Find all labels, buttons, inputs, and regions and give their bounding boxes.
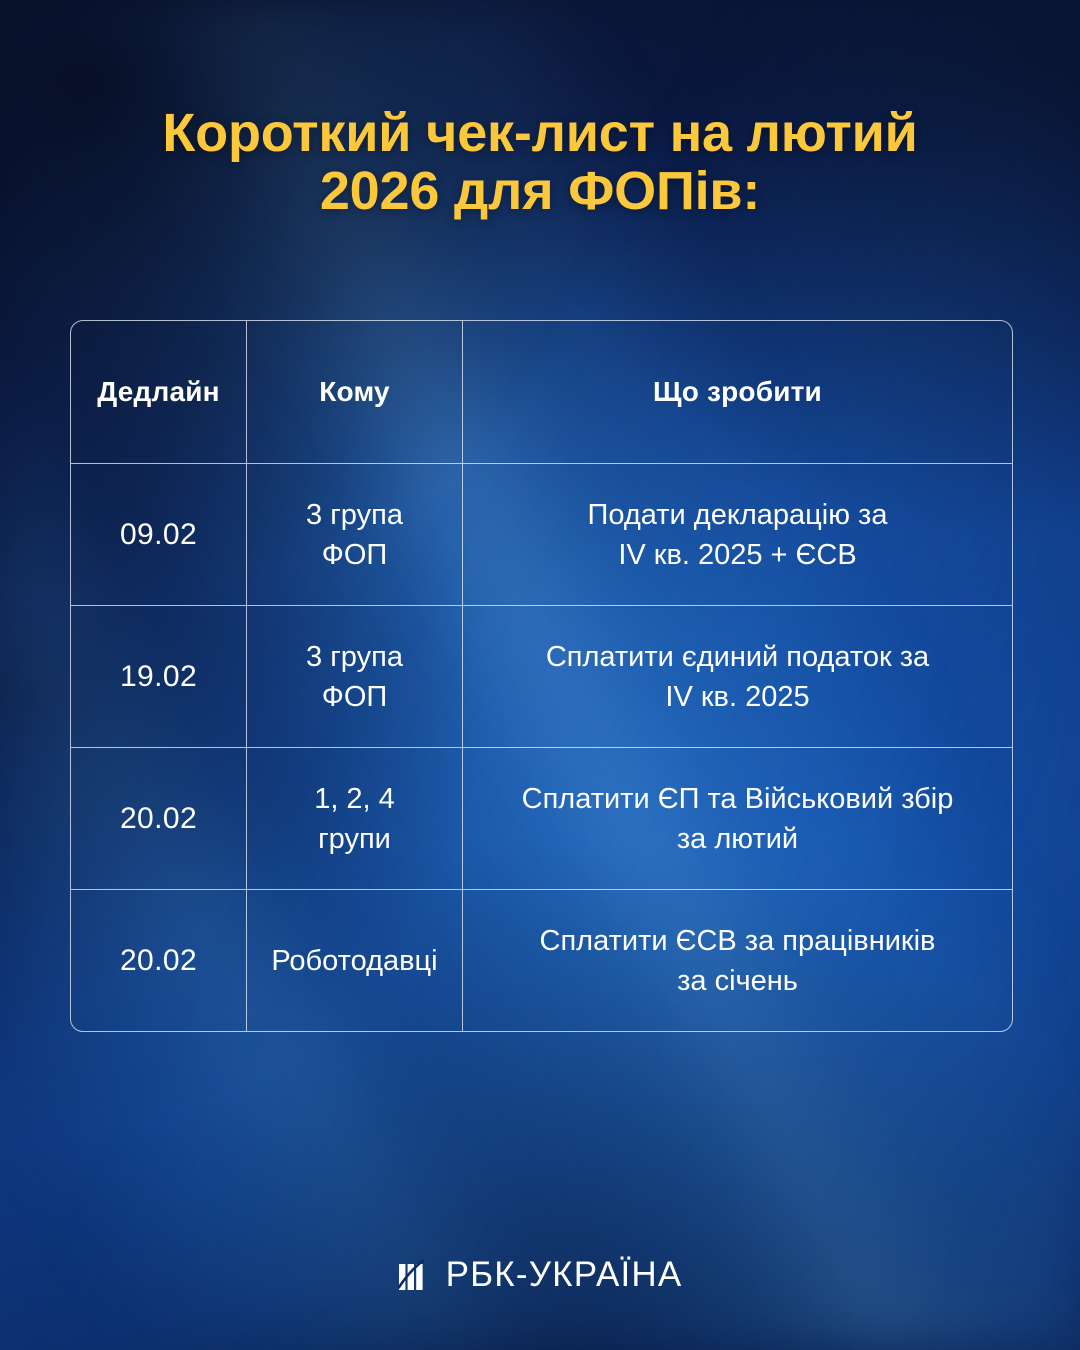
cell-who: 3 група ФОП	[246, 464, 462, 605]
checklist-table: Дедлайн Кому Що зробити 09.02 3 група ФО…	[70, 320, 1013, 1032]
cell-deadline: 09.02	[71, 464, 246, 605]
page-title: Короткий чек-лист на лютий 2026 для ФОПі…	[0, 104, 1080, 221]
cell-deadline: 20.02	[71, 748, 246, 889]
column-header-deadline: Дедлайн	[71, 321, 246, 463]
column-header-who: Кому	[246, 321, 462, 463]
logo-wordmark: РБК-УКРАЇНА	[446, 1257, 683, 1292]
cell-what: Сплатити ЄП та Військовий збір за лютий	[462, 748, 1012, 889]
cell-deadline: 20.02	[71, 890, 246, 1031]
cell-deadline: 19.02	[71, 606, 246, 747]
table-row: 20.02 Роботодавці Сплатити ЄСВ за праців…	[71, 889, 1012, 1031]
cell-who: 3 група ФОП	[246, 606, 462, 747]
cell-what: Сплатити єдиний податок за IV кв. 2025	[462, 606, 1012, 747]
cell-what: Сплатити ЄСВ за працівників за січень	[462, 890, 1012, 1031]
table-row: 09.02 3 група ФОП Подати декларацію за I…	[71, 463, 1012, 605]
rbc-bars-icon	[398, 1258, 431, 1291]
cell-what: Подати декларацію за IV кв. 2025 + ЄСВ	[462, 464, 1012, 605]
footer-logo: РБК-УКРАЇНА	[0, 1257, 1080, 1292]
cell-who: Роботодавці	[246, 890, 462, 1031]
table-header-row: Дедлайн Кому Що зробити	[71, 321, 1012, 463]
table-row: 20.02 1, 2, 4 групи Сплатити ЄП та Війсь…	[71, 747, 1012, 889]
cell-who: 1, 2, 4 групи	[246, 748, 462, 889]
table-row: 19.02 3 група ФОП Сплатити єдиний подато…	[71, 605, 1012, 747]
poster-canvas: Короткий чек-лист на лютий 2026 для ФОПі…	[0, 0, 1080, 1350]
column-header-what: Що зробити	[462, 321, 1012, 463]
